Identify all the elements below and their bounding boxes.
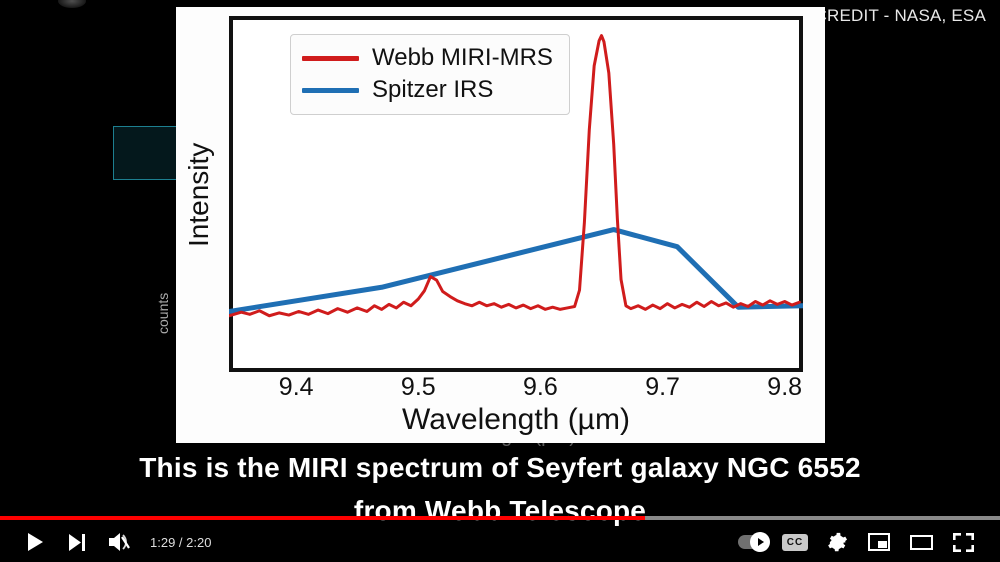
- autoplay-toggle-icon: [738, 535, 768, 549]
- player-controls-left: 1:29 / 2:20: [0, 522, 211, 562]
- legend-swatch-webb: [302, 56, 359, 61]
- x-axis-label: Wavelength (µm): [229, 403, 803, 437]
- background-teal-box: [113, 126, 178, 180]
- x-tick-label: 9.6: [523, 373, 558, 402]
- captions-button[interactable]: CC: [774, 522, 816, 562]
- y-axis-label: Intensity: [182, 107, 216, 283]
- play-icon: [27, 533, 44, 551]
- mute-button[interactable]: [98, 522, 140, 562]
- fullscreen-button[interactable]: [942, 522, 984, 562]
- theater-mode-button[interactable]: [900, 522, 942, 562]
- x-tick-label: 9.5: [401, 373, 436, 402]
- background-blob: [58, 0, 86, 8]
- credit-overlay: CREDIT - NASA, ESA: [815, 6, 986, 26]
- miniplayer-icon: [868, 533, 890, 551]
- progress-bar[interactable]: [0, 516, 1000, 520]
- caption-line-1: This is the MIRI spectrum of Seyfert gal…: [0, 452, 1000, 484]
- video-player-stage: CREDIT - NASA, ESA counts Wavelength (µm…: [0, 0, 1000, 562]
- chart-legend: Webb MIRI-MRS Spitzer IRS: [290, 34, 570, 115]
- progress-played: [0, 516, 645, 520]
- x-tick-label: 9.8: [767, 373, 802, 402]
- next-video-button[interactable]: [56, 522, 98, 562]
- legend-swatch-spitzer: [302, 88, 359, 93]
- plot-area: Webb MIRI-MRS Spitzer IRS: [229, 16, 803, 372]
- legend-label-spitzer: Spitzer IRS: [372, 76, 493, 104]
- settings-button[interactable]: [816, 522, 858, 562]
- player-controls-right: CC: [732, 522, 1000, 562]
- next-icon: [68, 534, 86, 551]
- x-tick-label: 9.4: [279, 373, 314, 402]
- closed-captions-icon: CC: [782, 534, 808, 551]
- theater-icon: [910, 534, 933, 551]
- fullscreen-icon: [953, 533, 974, 552]
- time-display: 1:29 / 2:20: [150, 535, 211, 550]
- background-counts-label: counts: [152, 268, 174, 358]
- x-axis-ticks: 9.49.59.69.79.8: [229, 373, 803, 405]
- x-tick-label: 9.7: [645, 373, 680, 402]
- legend-label-webb: Webb MIRI-MRS: [372, 44, 553, 72]
- legend-item-spitzer: Spitzer IRS: [302, 74, 553, 106]
- volume-muted-icon: [107, 531, 131, 553]
- legend-item-webb: Webb MIRI-MRS: [302, 42, 553, 74]
- autoplay-toggle-knob: [750, 532, 770, 552]
- player-controls: 1:29 / 2:20 CC: [0, 522, 1000, 562]
- autoplay-toggle-button[interactable]: [732, 522, 774, 562]
- play-button[interactable]: [14, 522, 56, 562]
- miniplayer-button[interactable]: [858, 522, 900, 562]
- chart-panel: Intensity Webb MIRI-MRS Spitzer IRS 9.49…: [176, 7, 825, 443]
- gear-icon: [827, 532, 848, 553]
- series-line-spitzer-irs: [229, 230, 803, 312]
